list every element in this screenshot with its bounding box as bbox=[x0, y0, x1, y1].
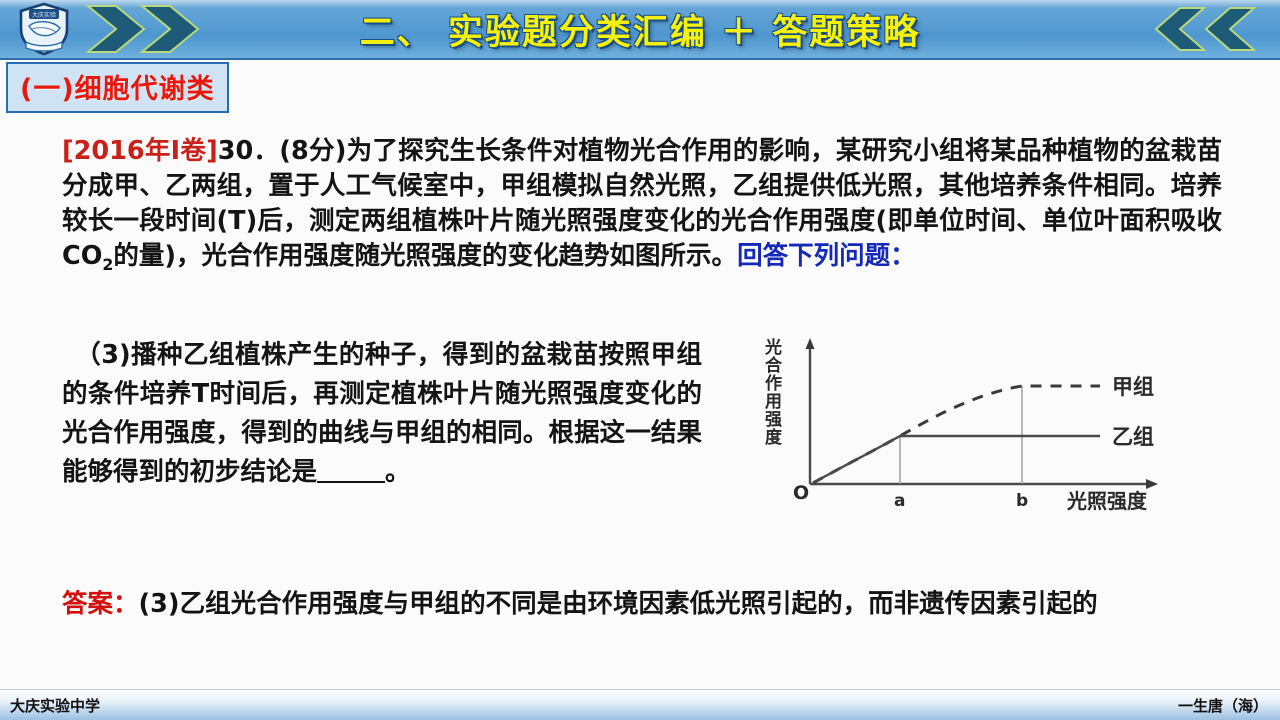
chart-legend-jiazu: 甲组 bbox=[1112, 375, 1154, 399]
chart-origin-label: O bbox=[793, 482, 809, 504]
sub-question-text: 播种乙组植株产生的种子，得到的盆栽苗按照甲组的条件培养T时间后，再测定植株叶片随… bbox=[62, 340, 702, 487]
question-stem: [2016年Ⅰ卷]30．(8分)为了探究生长条件对植物光合作用的影响，某研究小组… bbox=[62, 134, 1222, 282]
answer-text: (3)乙组光合作用强度与甲组的不同是由环境因素低光照引起的，而非遗传因素引起的 bbox=[139, 589, 1098, 619]
chart-xtick-a: a bbox=[894, 491, 905, 511]
sub-question-tail: 。 bbox=[385, 457, 411, 487]
answer-prompt: 回答下列问题： bbox=[737, 241, 916, 271]
chart-series-yizu-solid bbox=[813, 436, 1100, 483]
footer-author-name: 一生唐（海） bbox=[1178, 695, 1268, 716]
chart-series-jiazu-dashed bbox=[813, 386, 1100, 483]
slide-footer-bar: 大庆实验中学 一生唐（海） bbox=[0, 689, 1280, 720]
chart-y-axis-arrow bbox=[806, 338, 815, 349]
photosynthesis-chart: 光合作用强度 O a b 光照强度 甲组 乙组 bbox=[760, 336, 1200, 526]
chart-x-axis-label: 光照强度 bbox=[1066, 489, 1148, 513]
chart-legend-yizu: 乙组 bbox=[1112, 425, 1154, 449]
footer-school-name: 大庆实验中学 bbox=[10, 695, 100, 716]
sub-question-3: （3)播种乙组植株产生的种子，得到的盆栽苗按照甲组的条件培养T时间后，再测定植株… bbox=[62, 336, 702, 492]
answer-section: 答案：(3)乙组光合作用强度与甲组的不同是由环境因素低光照引起的，而非遗传因素引… bbox=[62, 584, 1222, 624]
answer-label: 答案： bbox=[62, 589, 139, 619]
chart-x-axis-arrow bbox=[1146, 479, 1158, 489]
question-score: (8分) bbox=[279, 136, 346, 166]
co2-subscript: 2 bbox=[102, 255, 113, 274]
section-label-cell-metabolism: (一)细胞代谢类 bbox=[6, 62, 229, 113]
chart-xtick-b: b bbox=[1016, 491, 1028, 511]
question-number: 30． bbox=[218, 136, 280, 166]
fill-in-blank[interactable] bbox=[317, 481, 385, 483]
exam-source-tag: [2016年Ⅰ卷] bbox=[62, 136, 218, 166]
sub-question-number: （3) bbox=[88, 340, 131, 370]
chart-svg: O a b 光照强度 甲组 乙组 bbox=[760, 336, 1200, 526]
question-body-part2: 的量)，光合作用强度随光照强度的变化趋势如图所示。 bbox=[113, 241, 737, 271]
page-title: 二、 实验题分类汇编 ＋ 答题策略 bbox=[0, 0, 1280, 58]
slide-header-bar: 大庆实验 二、 实验题分类汇编 ＋ 答题策略 bbox=[0, 0, 1280, 60]
